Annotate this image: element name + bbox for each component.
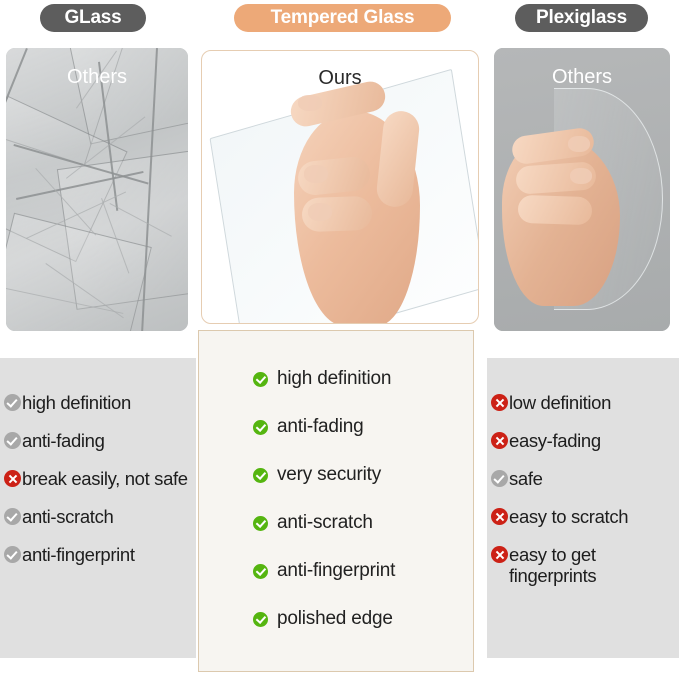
feature-item: high definition bbox=[253, 368, 463, 390]
cross-icon bbox=[4, 470, 21, 487]
fingernail-index bbox=[568, 136, 590, 152]
feature-label: very security bbox=[268, 464, 381, 486]
feature-item: anti-scratch bbox=[253, 512, 463, 534]
check-icon bbox=[253, 372, 268, 387]
cross-icon bbox=[491, 508, 508, 525]
feature-label: anti-fingerprint bbox=[21, 544, 135, 565]
feature-item: anti-scratch bbox=[4, 506, 194, 527]
fingernail-index bbox=[298, 95, 322, 111]
header-pill-glass-label: GLass bbox=[64, 7, 121, 29]
fingernail-middle bbox=[570, 168, 592, 184]
feature-list-plexiglass: low definitioneasy-fadingsafeeasy to scr… bbox=[491, 392, 677, 603]
feature-item: polished edge bbox=[253, 608, 463, 630]
feature-label: easy to scratch bbox=[508, 506, 628, 527]
cross-icon bbox=[491, 546, 508, 563]
image-panel-glass: Others bbox=[6, 48, 188, 331]
feature-label: anti-fading bbox=[21, 430, 105, 451]
feature-list-tempered-glass: high definitionanti-fadingvery securitya… bbox=[253, 368, 463, 656]
image-panel-tempered-glass: Ours bbox=[201, 50, 479, 324]
check-icon bbox=[253, 420, 268, 435]
feature-item: low definition bbox=[491, 392, 677, 413]
check-icon bbox=[253, 612, 268, 627]
feature-label: anti-fingerprint bbox=[268, 560, 395, 582]
image-panel-plexiglass: Others bbox=[494, 48, 670, 331]
feature-item: easy to scratch bbox=[491, 506, 677, 527]
feature-item: very security bbox=[253, 464, 463, 486]
feature-item: anti-fingerprint bbox=[4, 544, 194, 565]
feature-item: break easily, not safe bbox=[4, 468, 194, 489]
check-icon bbox=[253, 564, 268, 579]
fingernail-ring bbox=[308, 203, 332, 221]
header-pill-tempered-glass: Tempered Glass bbox=[234, 4, 451, 32]
check-icon bbox=[4, 432, 21, 449]
hand-flexing-plexiglass-image bbox=[494, 48, 670, 331]
feature-label: anti-scratch bbox=[21, 506, 113, 527]
panel-caption-left: Others bbox=[6, 66, 188, 89]
feature-label: anti-fading bbox=[268, 416, 364, 438]
feature-list-panel-tempered-glass: high definitionanti-fadingvery securitya… bbox=[198, 330, 474, 672]
cross-icon bbox=[491, 394, 508, 411]
fingernail-middle bbox=[304, 165, 328, 183]
feature-item: high definition bbox=[4, 392, 194, 413]
ring-finger bbox=[518, 195, 593, 226]
feature-label: easy to get fingerprints bbox=[508, 544, 677, 586]
feature-label: easy-fading bbox=[508, 430, 601, 451]
check-icon bbox=[491, 470, 508, 487]
feature-label: break easily, not safe bbox=[21, 468, 188, 489]
feature-list-glass: high definitionanti-fadingbreak easily, … bbox=[4, 392, 194, 582]
feature-label: polished edge bbox=[268, 608, 393, 630]
feature-label: anti-scratch bbox=[268, 512, 373, 534]
check-icon bbox=[253, 516, 268, 531]
feature-item: anti-fading bbox=[4, 430, 194, 451]
feature-label: high definition bbox=[21, 392, 131, 413]
panel-caption-right: Others bbox=[494, 66, 670, 89]
feature-item: anti-fading bbox=[253, 416, 463, 438]
feature-label: safe bbox=[508, 468, 543, 489]
check-icon bbox=[4, 394, 21, 411]
feature-item: easy-fading bbox=[491, 430, 677, 451]
cross-icon bbox=[491, 432, 508, 449]
feature-item: easy to get fingerprints bbox=[491, 544, 677, 586]
header-pill-glass: GLass bbox=[40, 4, 146, 32]
check-icon bbox=[253, 468, 268, 483]
feature-label: low definition bbox=[508, 392, 611, 413]
header-pill-plexiglass: Plexiglass bbox=[515, 4, 648, 32]
feature-list-panel-glass: high definitionanti-fadingbreak easily, … bbox=[0, 358, 196, 658]
feature-list-panel-plexiglass: low definitioneasy-fadingsafeeasy to scr… bbox=[487, 358, 679, 658]
header-pill-plexiglass-label: Plexiglass bbox=[536, 7, 627, 29]
feature-item: anti-fingerprint bbox=[253, 560, 463, 582]
header-pill-tempered-label: Tempered Glass bbox=[271, 7, 415, 29]
panel-caption-center: Ours bbox=[202, 67, 478, 90]
cracked-glass-image bbox=[6, 48, 188, 331]
hand-holding-glass-image bbox=[202, 51, 478, 323]
feature-item: safe bbox=[491, 468, 677, 489]
check-icon bbox=[4, 508, 21, 525]
check-icon bbox=[4, 546, 21, 563]
feature-label: high definition bbox=[268, 368, 391, 390]
